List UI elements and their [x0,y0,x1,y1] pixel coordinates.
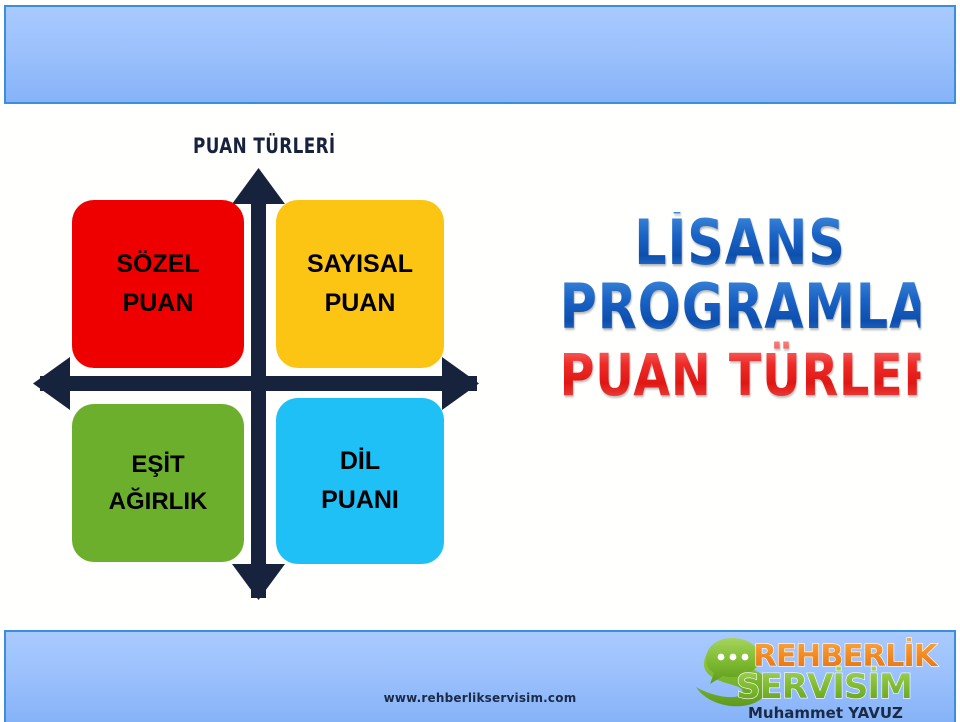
axis-arrow-right-icon [442,357,479,410]
rehberlik-servisim-logo[interactable]: REHBERLİK SERVİSİM Muhammet YAVUZ [690,632,960,722]
quadrant-box-esit-agirlik[interactable]: EŞİT AĞIRLIK [72,404,244,562]
logo-bubble-dot-1 [718,654,725,661]
quadrant-label-line2: PUANI [321,481,399,520]
quadrant-label-line1: DİL [340,442,380,481]
headline-line-programlari: PROGRAMLARI [560,274,921,341]
quadrant-label-line1: EŞİT [131,446,184,483]
quadrant-box-sozel[interactable]: SÖZEL PUAN [72,200,244,368]
logo-bubble-dot-3 [742,654,749,661]
logo-byline: Muhammet YAVUZ [748,704,903,722]
quadrant-box-dil[interactable]: DİL PUANI [276,398,444,564]
logo-word-servisim: SERVİSİM [736,666,912,707]
top-banner [4,5,956,104]
headline-line-puan-turleri: PUAN TÜRLERİ [560,341,921,409]
slide-canvas: PUAN TÜRLERİ SÖZEL PUAN SAYISAL PUAN EŞİ… [0,0,960,720]
headline-line-lisans: LİSANS [560,212,921,274]
quadrant-label-line2: AĞIRLIK [109,483,208,520]
quadrant-label-line1: SÖZEL [116,245,199,284]
quadrant-label-line2: PUAN [123,284,194,323]
quadrant-box-sayisal[interactable]: SAYISAL PUAN [276,200,444,368]
quadrant-label-line2: PUAN [325,284,396,323]
axis-arrow-down-icon [232,564,285,600]
axis-arrow-up-icon [232,168,285,204]
quadrant-label-line1: SAYISAL [307,245,413,284]
axis-title: PUAN TÜRLERİ [193,134,336,158]
axis-arrow-left-icon [33,357,70,410]
horizontal-axis-line [40,376,477,391]
logo-bubble-dot-2 [730,654,737,661]
vertical-axis-line [251,180,266,598]
headline-block: LİSANS PROGRAMLARI PUAN TÜRLERİ [520,212,960,409]
